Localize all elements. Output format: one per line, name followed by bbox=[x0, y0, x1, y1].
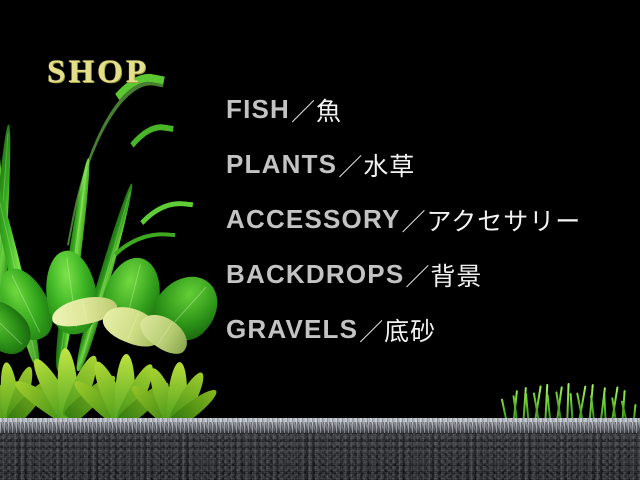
menu-item-backdrops-latin-label: BACKDROPS bbox=[226, 259, 404, 290]
menu-item-gravels-japanese-label: 底砂 bbox=[384, 312, 436, 348]
menu-item-plants-separator: ／ bbox=[338, 147, 362, 182]
menu-item-gravels-separator: ／ bbox=[359, 312, 383, 347]
menu-item-accessory-latin-label: ACCESSORY bbox=[226, 204, 401, 235]
page-title: SHOP bbox=[47, 54, 149, 91]
aquarium-plant-cluster-left bbox=[0, 80, 240, 440]
menu-item-backdrops-japanese-label: 背景 bbox=[430, 257, 482, 293]
menu-item-plants[interactable]: PLANTS ／ 水草 bbox=[226, 137, 630, 192]
menu-item-backdrops[interactable]: BACKDROPS ／ 背景 bbox=[226, 247, 630, 302]
gravel-substrate bbox=[0, 418, 640, 480]
menu-item-accessory[interactable]: ACCESSORY ／ アクセサリー bbox=[226, 192, 630, 247]
menu-item-fish-separator: ／ bbox=[291, 92, 315, 127]
menu-item-gravels[interactable]: GRAVELS ／ 底砂 bbox=[226, 302, 630, 357]
menu-item-gravels-latin-label: GRAVELS bbox=[226, 314, 358, 345]
menu-item-fish[interactable]: FISH ／ 魚 bbox=[226, 82, 630, 137]
shop-category-menu: FISH ／ 魚 PLANTS ／ 水草 ACCESSORY ／ アクセサリー … bbox=[226, 82, 630, 357]
menu-item-backdrops-separator: ／ bbox=[405, 257, 429, 292]
menu-item-accessory-separator: ／ bbox=[402, 202, 426, 237]
menu-item-plants-japanese-label: 水草 bbox=[363, 147, 415, 183]
menu-item-fish-japanese-label: 魚 bbox=[316, 92, 342, 128]
menu-item-fish-latin-label: FISH bbox=[226, 94, 290, 125]
menu-item-accessory-japanese-label: アクセサリー bbox=[427, 202, 582, 238]
menu-item-plants-latin-label: PLANTS bbox=[226, 149, 337, 180]
gravel-top-edge bbox=[0, 418, 640, 422]
shop-menu-screen: SHOP FISH ／ 魚 PLANTS ／ 水草 ACCESSORY ／ アク… bbox=[0, 0, 640, 480]
